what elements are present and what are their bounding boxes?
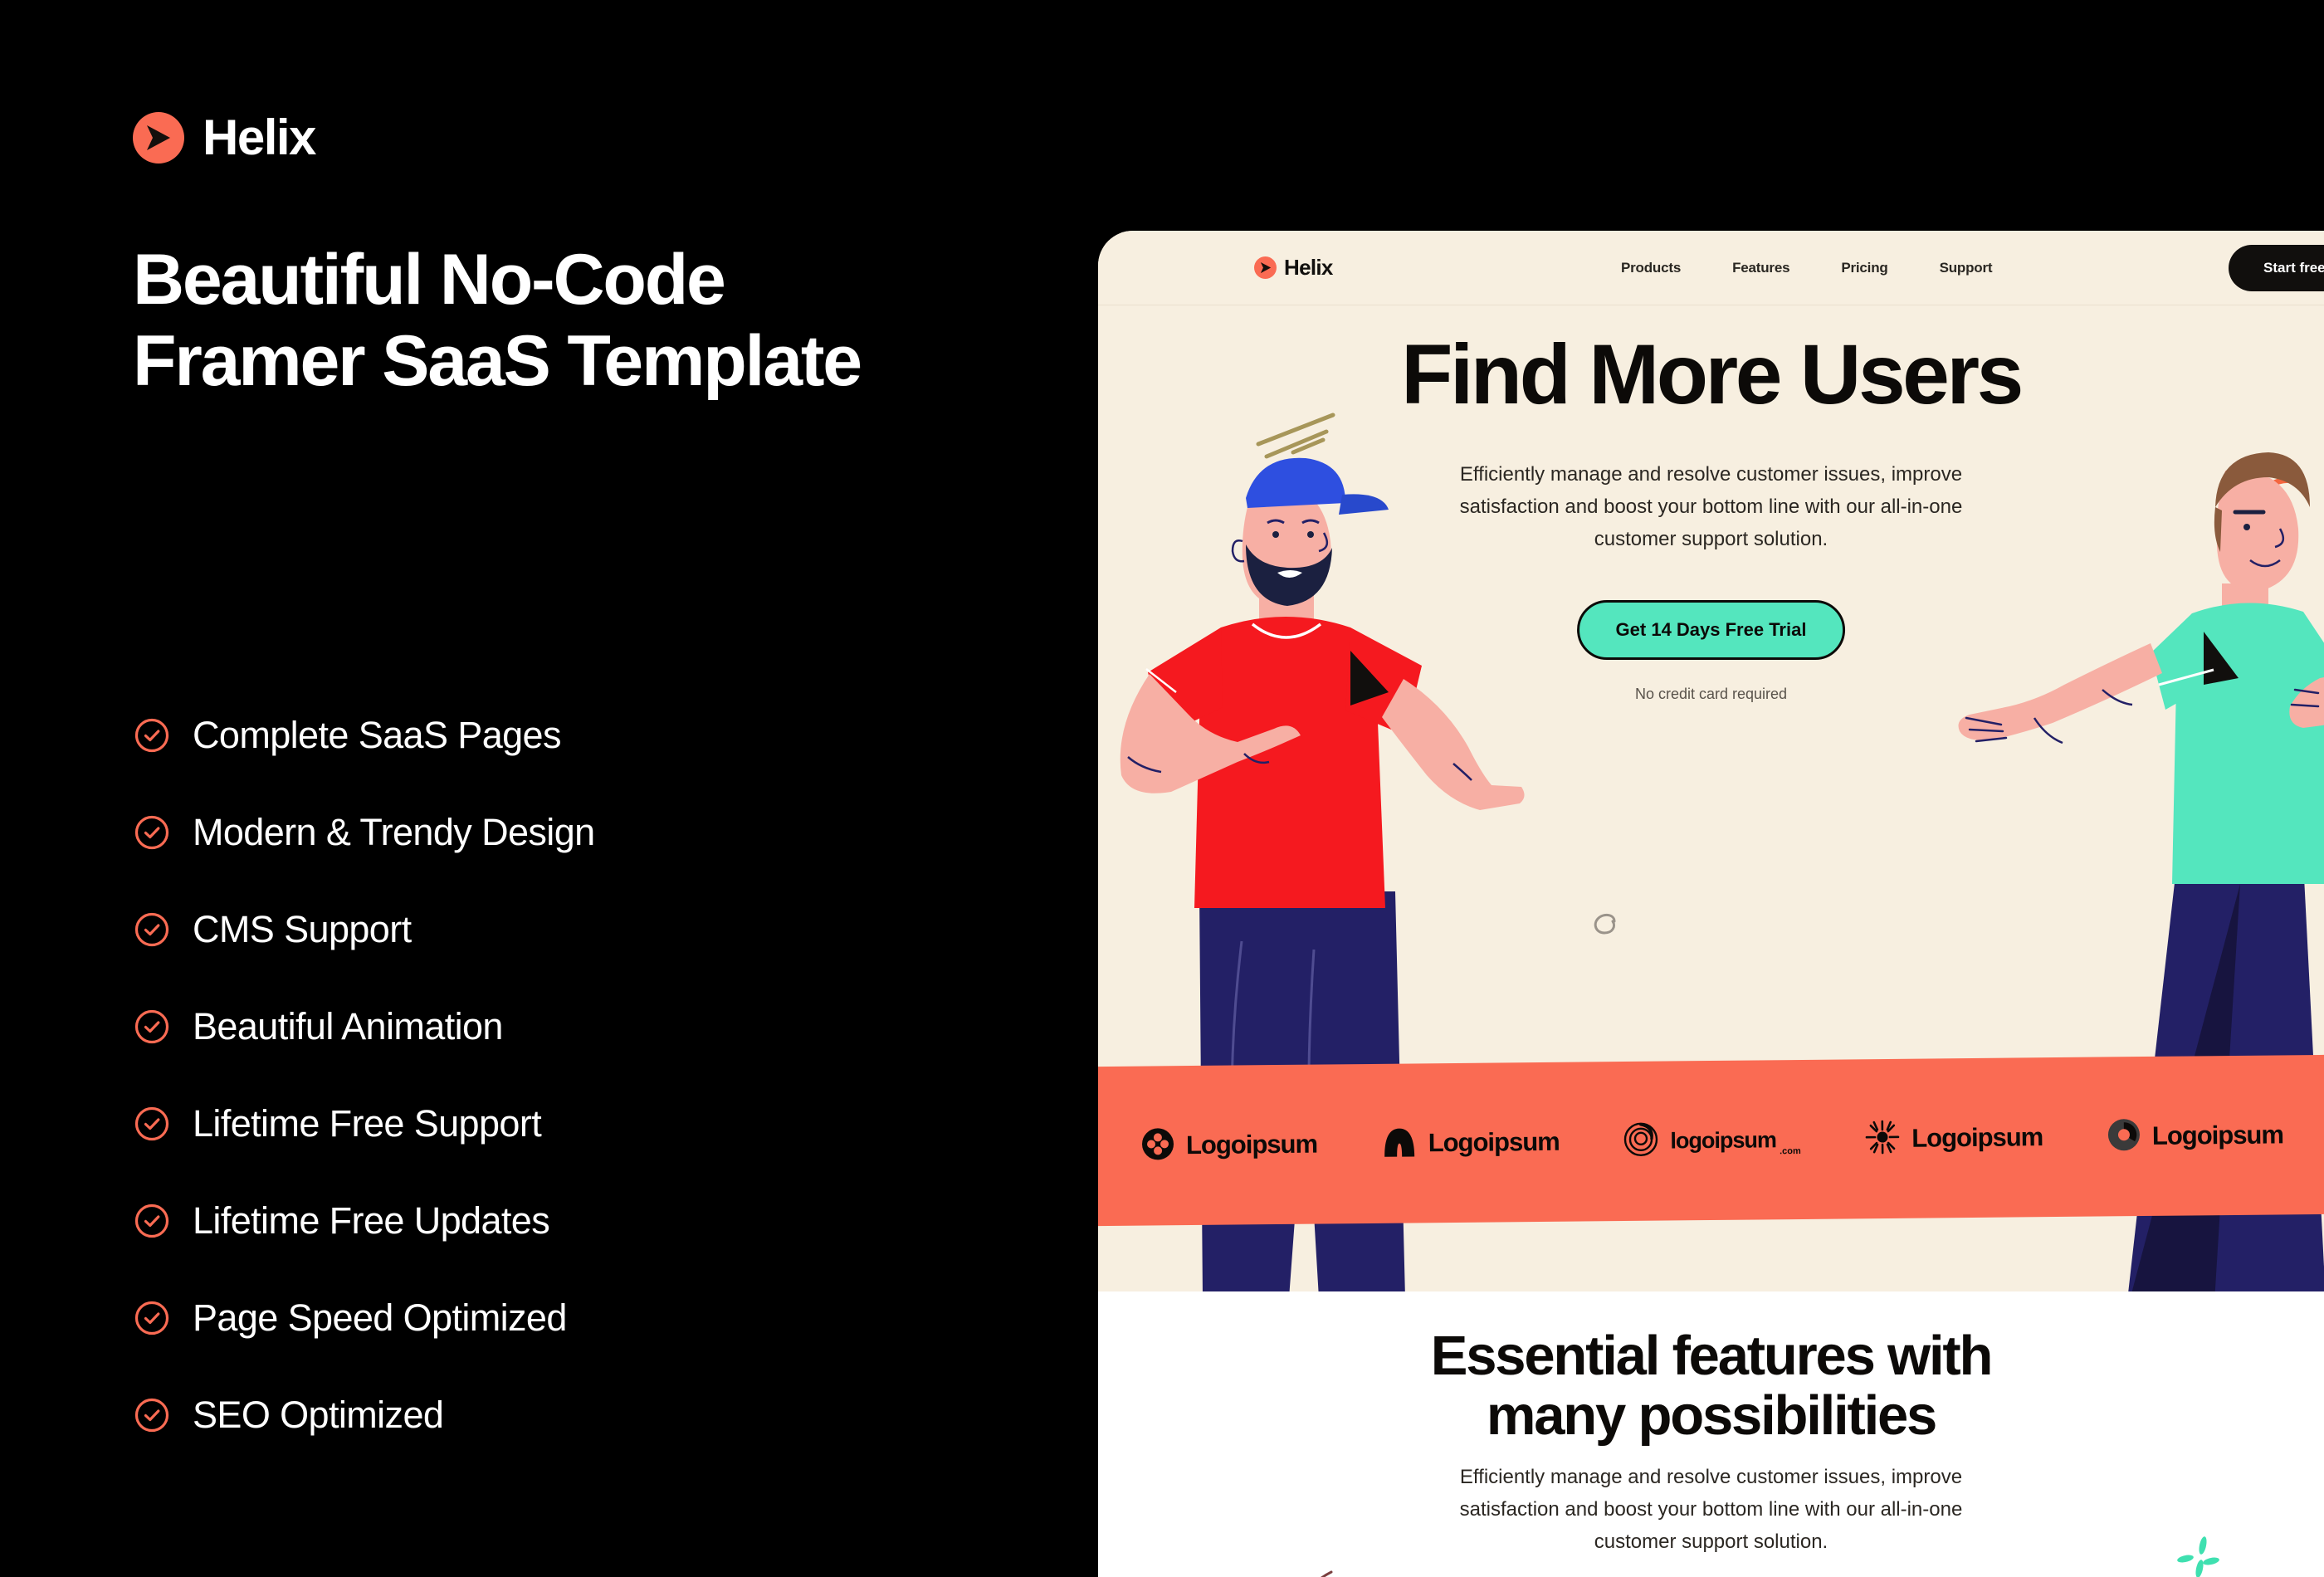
website-mockup: Helix Products Features Pricing Support … [1098,231,2324,1577]
page-title-line1: Beautiful No-Code [133,240,725,320]
logo-label: logoipsum [1670,1127,1776,1154]
page-title: Beautiful No-Code Framer SaaS Template [133,239,1062,402]
list-item-label: Beautiful Animation [193,1005,503,1048]
hero-note: No credit card required [1635,686,1787,703]
play-triangle-icon [133,112,184,164]
flower-circle-mark-icon [1141,1127,1174,1164]
list-item-label: Lifetime Free Updates [193,1199,549,1243]
sunburst-mark-icon [1865,1119,1900,1158]
logo-suffix: .com [1780,1145,1801,1155]
mockup-navbar: Helix Products Features Pricing Support … [1098,231,2324,305]
features-title: Essential features with many possibiliti… [1098,1326,2324,1447]
get-free-trial-button[interactable]: Get 14 Days Free Trial [1577,600,1846,660]
check-circle-icon [134,815,169,850]
mockup-nav-links: Products Features Pricing Support [1621,260,1992,276]
spiral-doodle-icon [1293,1565,1341,1577]
page-title-line2: Framer SaaS Template [133,321,861,401]
list-item-label: Page Speed Optimized [193,1296,567,1340]
mockup-brand[interactable]: Helix [1254,255,1333,281]
features-title-line2: many possibilities [1487,1384,1936,1447]
start-free-trial-button[interactable]: Start free trial [2229,245,2324,291]
list-item: SEO Optimized [134,1389,595,1441]
check-circle-icon [134,1106,169,1141]
logo-label: Logoipsum [1428,1127,1560,1159]
check-circle-icon [134,718,169,753]
logo-item: logoipsum .com [1623,1120,1801,1160]
features-title-line1: Essential features with [1431,1325,1991,1387]
list-item: Beautiful Animation [134,1001,595,1052]
sparkle-icon [2173,1534,2221,1577]
nav-item-pricing[interactable]: Pricing [1841,260,1887,276]
check-circle-icon [134,1203,169,1238]
list-item-label: Lifetime Free Support [193,1102,541,1145]
logo-strip: Logoipsum Logoipsum [1098,1055,2324,1227]
logo-item: Logoipsum [1865,1118,2043,1159]
half-disc-mark-icon [2107,1118,2141,1155]
brand-lockup: Helix [133,112,315,164]
list-item-label: Complete SaaS Pages [193,714,561,757]
list-item: Modern & Trendy Design [134,807,595,858]
check-circle-icon [134,1398,169,1433]
spiral-circle-mark-icon [1623,1121,1658,1160]
nav-item-support[interactable]: Support [1940,260,1993,276]
hero-title: Find More Users [1098,332,2324,417]
list-item-label: SEO Optimized [193,1394,443,1437]
check-circle-icon [134,912,169,947]
check-circle-icon [134,1301,169,1335]
list-item: Page Speed Optimized [134,1292,595,1344]
list-item: Lifetime Free Support [134,1098,595,1150]
promo-panel: Helix Beautiful No-Code Framer SaaS Temp… [0,0,1098,1577]
logo-item: Logoipsum [2107,1116,2283,1155]
nav-item-products[interactable]: Products [1621,260,1681,276]
swirl-doodle-icon [1584,910,1626,945]
logo-item: Logoipsum [1141,1125,1317,1164]
logo-label: Logoipsum [2152,1120,2283,1151]
feature-list: Complete SaaS Pages Modern & Trendy Desi… [134,710,595,1487]
features-section: Essential features with many possibiliti… [1098,1291,2324,1577]
features-subtitle: Efficiently manage and resolve customer … [1425,1462,1998,1559]
brand-name: Helix [203,113,315,163]
check-circle-icon [134,1009,169,1044]
list-item-label: Modern & Trendy Design [193,811,595,854]
play-triangle-icon [1254,256,1277,279]
mockup-brand-name: Helix [1284,255,1333,281]
list-item-label: CMS Support [193,908,412,951]
nav-item-features[interactable]: Features [1732,260,1789,276]
arch-mark-icon [1382,1125,1417,1162]
logo-label: Logoipsum [1911,1122,2043,1154]
list-item: CMS Support [134,904,595,955]
list-item: Lifetime Free Updates [134,1195,595,1247]
logo-label: Logoipsum [1186,1130,1317,1161]
hero-subtitle: Efficiently manage and resolve customer … [1425,459,1998,556]
list-item: Complete SaaS Pages [134,710,595,761]
logo-item: Logoipsum [1382,1123,1560,1162]
